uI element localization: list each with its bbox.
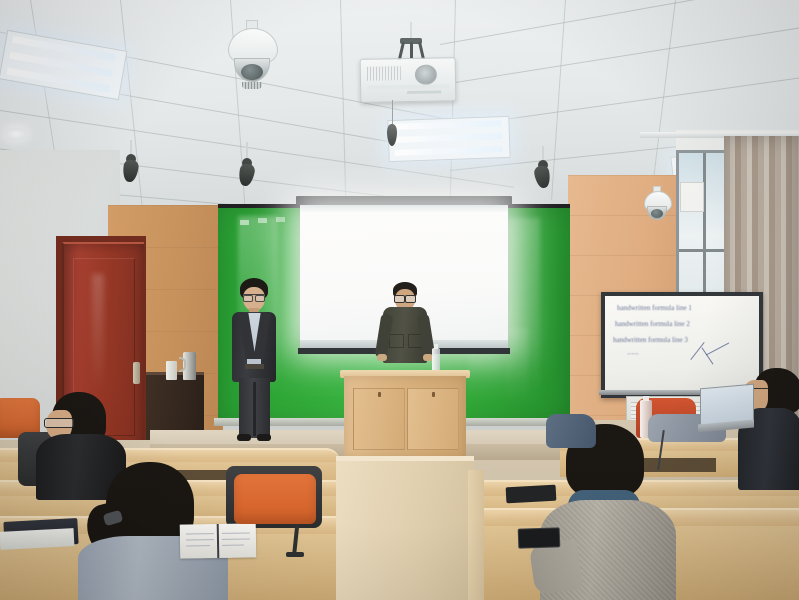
lecture-hall-photo: handwritten formula line 1 handwritten f…: [0, 0, 799, 600]
lectern-door-left[interactable]: [353, 388, 405, 450]
speaker-shoe-right: [257, 434, 271, 441]
troffer-light-center: [387, 116, 510, 162]
speaker-leg-gap: [253, 382, 256, 436]
dome-camera-right-icon: [644, 186, 670, 224]
smartphone[interactable]: [518, 527, 561, 548]
water-bottle-podium: [432, 348, 440, 372]
speaker-shoe-left: [237, 434, 251, 441]
open-notebook[interactable]: [180, 523, 257, 558]
speaker-belt: [245, 364, 264, 369]
whiteboard-note-1: handwritten formula line 1: [617, 304, 692, 312]
backpack-blue: [546, 414, 596, 448]
microphone-cord: [392, 100, 393, 126]
presenter-pocket-left: [389, 334, 404, 348]
aisle-side-panel: [468, 470, 484, 600]
board-spotlight-left: [236, 142, 258, 188]
whiteboard-diagram: [690, 342, 704, 360]
aisle-step-block: [336, 458, 474, 600]
chair-foot: [286, 552, 304, 557]
door-handle-icon[interactable]: [133, 362, 140, 384]
lectern: [344, 376, 466, 458]
cup: [166, 361, 177, 380]
podium-presenter: [383, 282, 427, 372]
downlight: [5, 128, 27, 140]
thermos-flask: [183, 352, 196, 380]
lectern-door-right[interactable]: [407, 388, 459, 450]
audience-left-glasses-icon: [44, 418, 74, 428]
presenter-glasses-icon: [394, 295, 416, 301]
wall-notice: [680, 182, 704, 212]
chair-orange-center-seat[interactable]: [234, 474, 316, 524]
screen-housing: [296, 196, 512, 205]
board-spotlight-right: [532, 146, 554, 192]
standing-speaker: [232, 278, 276, 443]
presenter-hand-left: [377, 354, 387, 361]
projector: [360, 57, 457, 103]
aisle-step-edge: [336, 456, 474, 461]
tablet-device[interactable]: [506, 485, 557, 504]
door-reflection: [92, 274, 104, 394]
audience-grey-sweater: [540, 424, 676, 600]
whiteboard-note-3: handwritten formula line 3: [613, 336, 688, 344]
dome-camera-left-icon: [228, 20, 276, 90]
speaker-glasses-icon: [243, 294, 265, 300]
board-spotlight-center: [120, 140, 142, 186]
whiteboard-note-2: handwritten formula line 2: [615, 320, 690, 328]
